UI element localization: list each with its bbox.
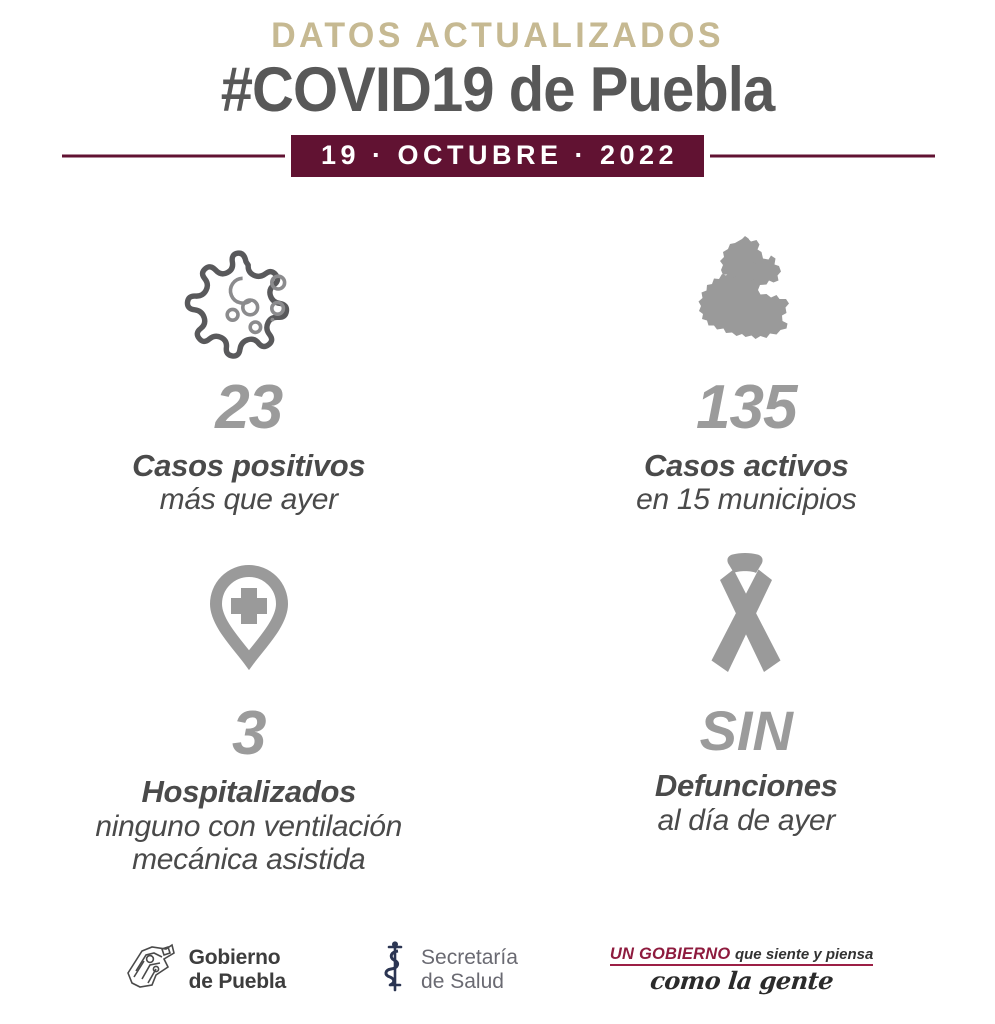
stat-card-hospitalizados: 3 Hospitalizados ninguno con ventilación… bbox=[0, 539, 498, 877]
stat-sublabel-casos-positivos: más que ayer bbox=[160, 483, 338, 517]
date-rule-left bbox=[62, 154, 285, 157]
stat-label-defunciones: Defunciones bbox=[655, 769, 838, 804]
coronavirus-icon bbox=[179, 223, 319, 363]
date-banner: 19 · OCTUBRE · 2022 bbox=[0, 135, 995, 177]
secretaria-salud-wordmark: Secretaría de Salud bbox=[421, 946, 518, 994]
slogan-strong: UN GOBIERNO bbox=[610, 945, 730, 963]
stat-value-defunciones: SIN bbox=[700, 703, 793, 759]
header-kicker: DATOS ACTUALIZADOS bbox=[15, 18, 980, 55]
stat-value-casos-positivos: 23 bbox=[215, 377, 282, 439]
stat-label-hospitalizados: Hospitalizados bbox=[141, 775, 356, 810]
stat-label-casos-positivos: Casos positivos bbox=[132, 449, 365, 484]
date-rule-right bbox=[710, 154, 935, 157]
gobierno-puebla-emblem-icon bbox=[122, 939, 180, 1000]
stat-label-casos-activos: Casos activos bbox=[644, 449, 849, 484]
gobierno-line1: Gobierno bbox=[189, 946, 286, 970]
slogan-script: como la gente bbox=[609, 969, 875, 993]
stat-sublabel2-hospitalizados: mecánica asistida bbox=[132, 843, 365, 877]
stat-sublabel-casos-activos: en 15 municipios bbox=[636, 483, 856, 517]
page-title: #COVID19 de Puebla bbox=[40, 59, 955, 122]
slogan-lockup: UN GOBIERNO que siente y piensa como la … bbox=[610, 946, 873, 994]
gobierno-puebla-wordmark: Gobierno de Puebla bbox=[189, 946, 286, 994]
date-label: 19 · OCTUBRE · 2022 bbox=[291, 135, 704, 177]
logo-secretaria-salud: Secretaría de Salud bbox=[378, 941, 518, 998]
header: DATOS ACTUALIZADOS #COVID19 de Puebla 19… bbox=[0, 0, 995, 177]
stat-sublabel-defunciones: al día de ayer bbox=[657, 804, 835, 838]
stat-card-defunciones: SIN Defunciones al día de ayer bbox=[498, 539, 995, 877]
hospital-pin-icon bbox=[194, 539, 304, 689]
salud-line2: de Salud bbox=[421, 970, 518, 994]
logo-gobierno-puebla: Gobierno de Puebla bbox=[122, 939, 286, 1000]
salud-line1: Secretaría bbox=[421, 946, 518, 970]
awareness-ribbon-icon bbox=[694, 539, 798, 689]
asclepius-staff-icon bbox=[378, 941, 412, 998]
stat-card-casos-positivos: 23 Casos positivos más que ayer bbox=[0, 223, 498, 517]
stat-sublabel-hospitalizados: ninguno con ventilación bbox=[95, 810, 402, 844]
stats-grid: 23 Casos positivos más que ayer 135 Caso… bbox=[0, 223, 995, 877]
gobierno-line2: de Puebla bbox=[189, 970, 286, 994]
stat-card-casos-activos: 135 Casos activos en 15 municipios bbox=[498, 223, 995, 517]
slogan-rest: que siente y piensa bbox=[735, 946, 873, 963]
stat-value-casos-activos: 135 bbox=[696, 377, 796, 439]
footer: Gobierno de Puebla Secretaría de Salud U… bbox=[0, 939, 995, 1000]
stat-value-hospitalizados: 3 bbox=[232, 703, 265, 765]
slogan-line1: UN GOBIERNO que siente y piensa bbox=[610, 946, 873, 967]
puebla-map-icon bbox=[686, 223, 806, 363]
